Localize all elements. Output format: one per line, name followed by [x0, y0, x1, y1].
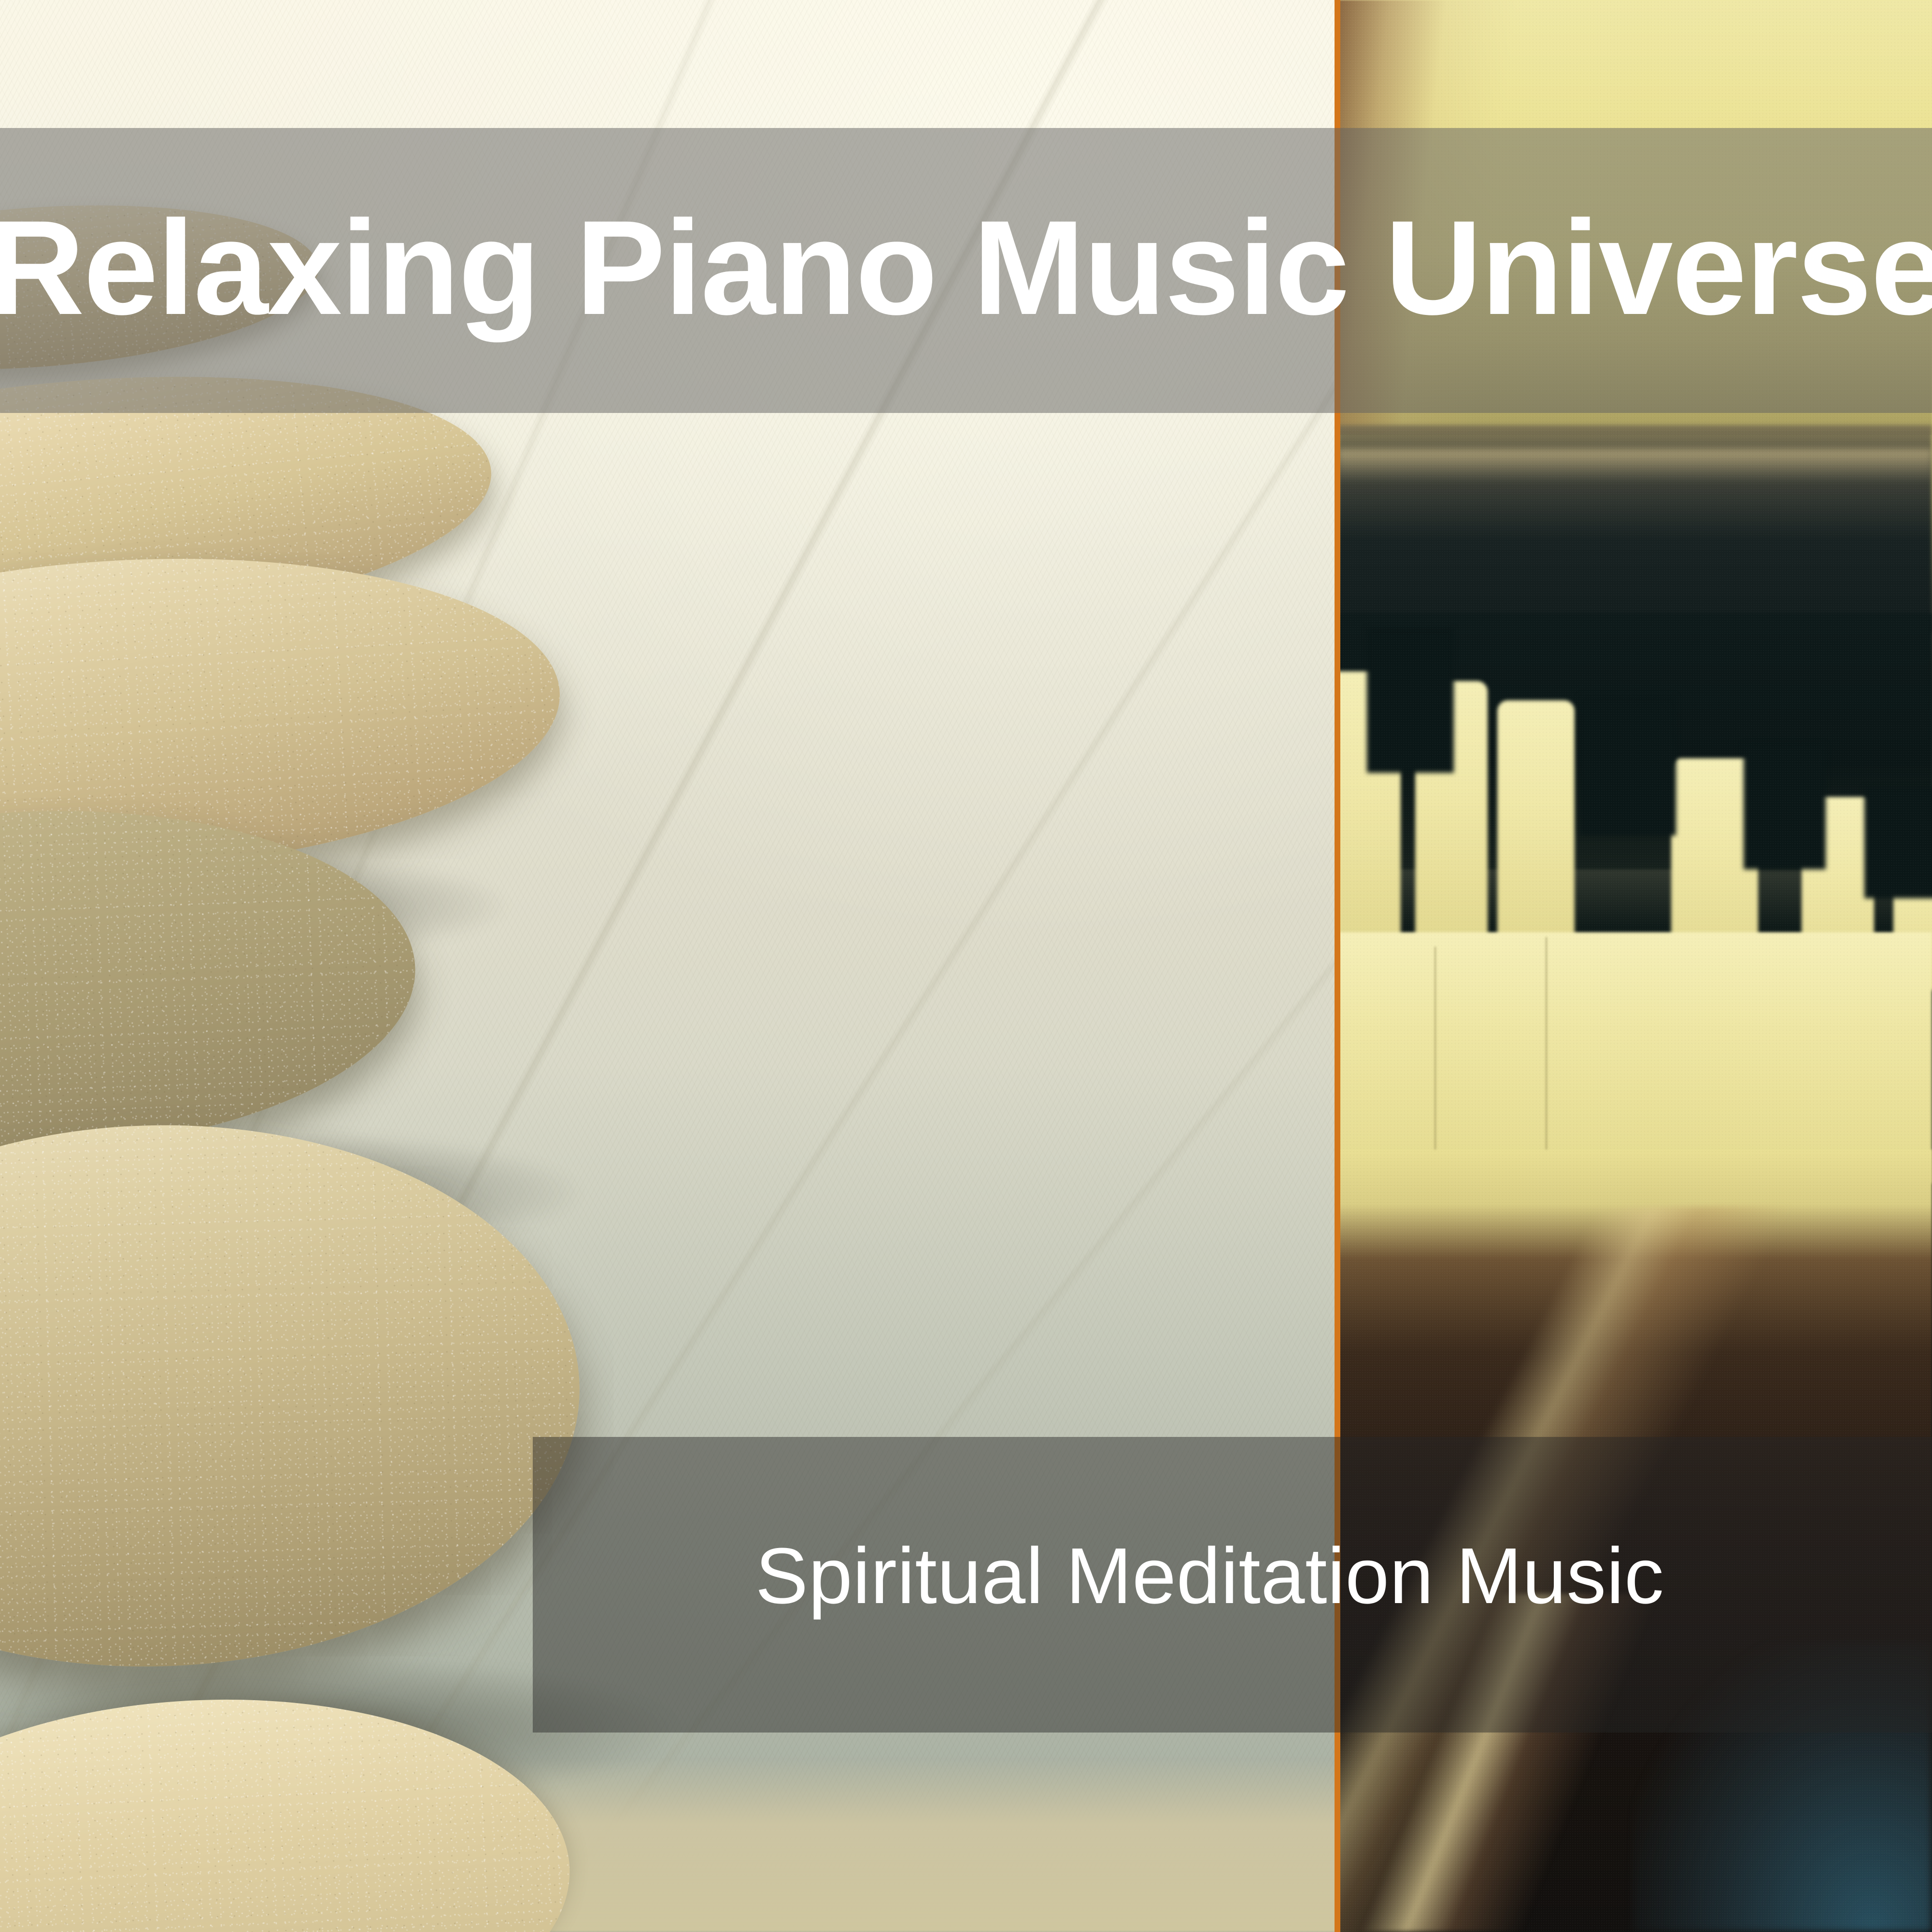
black-key	[1579, 696, 1676, 836]
black-key	[1864, 787, 1932, 898]
piano-lid-highlight	[1338, 449, 1932, 483]
black-key	[1367, 628, 1454, 773]
album-title: Relaxing Piano Music Universe	[0, 200, 1932, 335]
piano-key-bed	[1338, 932, 1932, 1183]
album-cover: Relaxing Piano Music Universe Spiritual …	[0, 0, 1932, 1932]
white-key	[1497, 700, 1575, 947]
album-subtitle: Spiritual Meditation Music	[755, 1536, 1664, 1616]
black-key	[1744, 744, 1826, 869]
title-banner: Relaxing Piano Music Universe	[0, 128, 1932, 413]
subtitle-banner: Spiritual Meditation Music	[533, 1437, 1932, 1733]
